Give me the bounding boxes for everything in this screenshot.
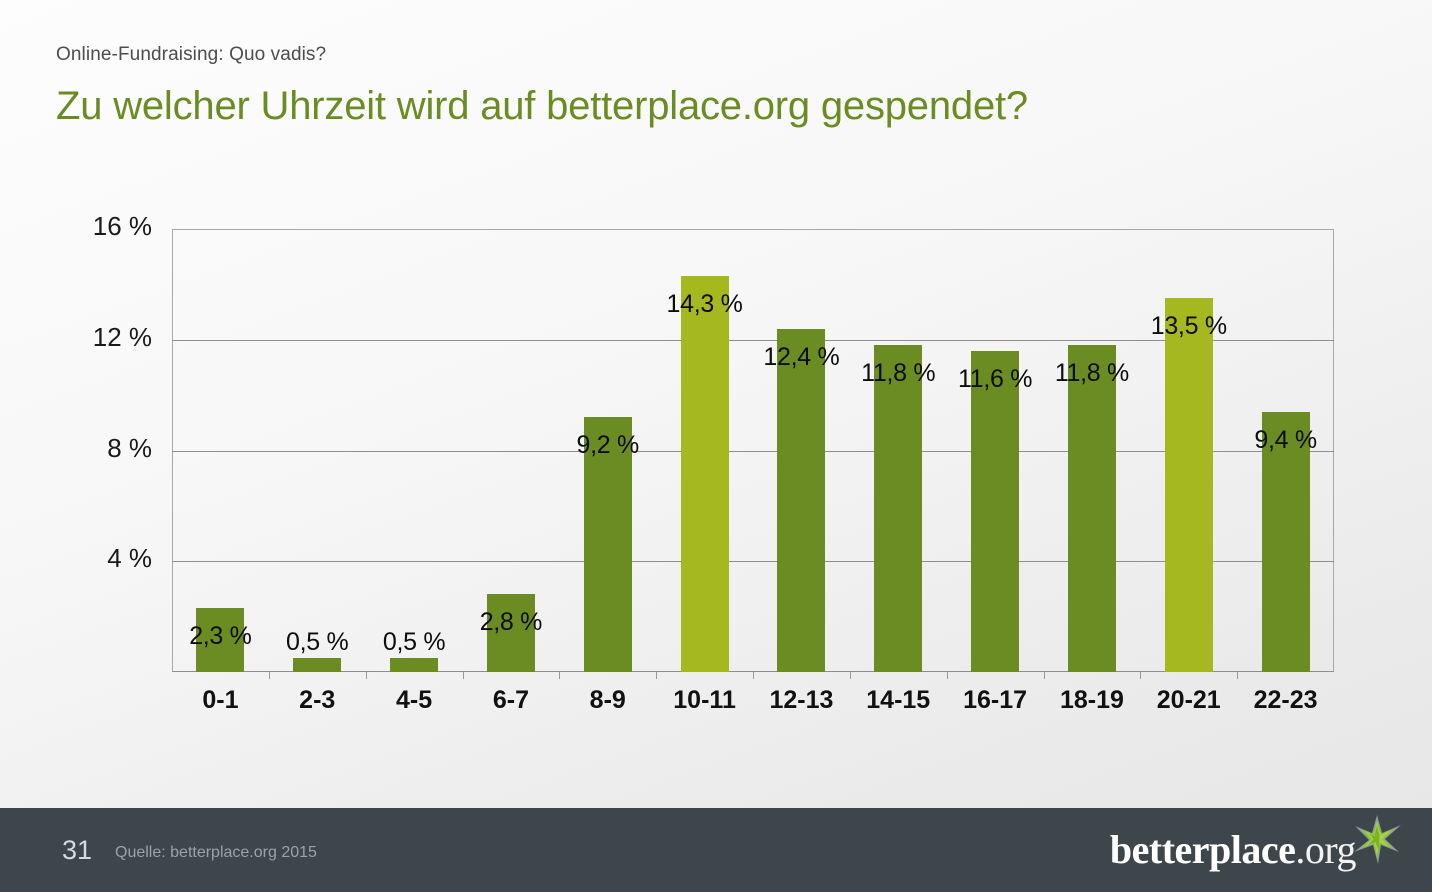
x-axis-tick [1044, 672, 1045, 679]
x-axis-category-label: 22-23 [1237, 686, 1334, 715]
bar-value-label: 14,3 % [667, 292, 743, 317]
x-axis-category-label: 18-19 [1044, 686, 1141, 715]
bar-slot: 11,8 % [1044, 229, 1141, 672]
slide-footer: 31 Quelle: betterplace.org 2015 betterpl… [0, 808, 1432, 892]
bar-value-label: 0,5 % [383, 630, 445, 655]
logo-wordmark: betterplace.org [1110, 830, 1356, 870]
x-axis-category-label: 12-13 [753, 686, 850, 715]
x-axis-category-label: 0-1 [172, 686, 269, 715]
betterplace-logo[interactable]: betterplace.org [1110, 826, 1404, 874]
bar-value-label: 11,6 % [958, 367, 1032, 392]
bar-value-label: 11,8 % [861, 361, 935, 386]
bar[interactable]: 0,5 % [390, 658, 438, 672]
bar-slot: 11,8 % [850, 229, 947, 672]
logo-brand-text: betterplace [1110, 827, 1296, 872]
x-axis-tick [1237, 672, 1238, 679]
logo-tld-text: .org [1295, 827, 1356, 872]
bar-slot: 9,4 % [1237, 229, 1334, 672]
bars-container: 2,3 %0,5 %0,5 %2,8 %9,2 %14,3 %12,4 %11,… [172, 229, 1334, 672]
bar[interactable]: 9,4 % [1262, 412, 1310, 672]
x-axis-tick [559, 672, 560, 679]
x-axis-tick [947, 672, 948, 679]
bar-value-label: 2,8 % [480, 610, 542, 635]
bar[interactable]: 11,6 % [971, 351, 1019, 672]
bar-value-label: 12,4 % [763, 345, 839, 370]
bar[interactable]: 11,8 % [1068, 345, 1116, 672]
bar-slot: 12,4 % [753, 229, 850, 672]
bar-value-label: 13,5 % [1151, 314, 1227, 339]
x-axis-category-label: 8-9 [559, 686, 656, 715]
x-axis-tick [753, 672, 754, 679]
bar-value-label: 2,3 % [189, 624, 251, 649]
bar[interactable]: 2,8 % [487, 594, 535, 672]
bar-slot: 0,5 % [366, 229, 463, 672]
x-axis-tick [366, 672, 367, 679]
x-axis-category-label: 4-5 [366, 686, 463, 715]
x-axis-tick [269, 672, 270, 679]
bar-value-label: 9,4 % [1254, 428, 1316, 453]
bar[interactable]: 11,8 % [874, 345, 922, 672]
bar-value-label: 0,5 % [286, 630, 348, 655]
y-axis-tick-label: 8 % [32, 433, 152, 464]
y-axis-tick-label: 4 % [32, 543, 152, 574]
x-axis-category-label: 14-15 [850, 686, 947, 715]
bar[interactable]: 9,2 % [584, 417, 632, 672]
bar-slot: 9,2 % [559, 229, 656, 672]
page-number: 31 [62, 835, 92, 866]
bar-slot: 2,3 % [172, 229, 269, 672]
y-axis-tick-label: 16 % [32, 211, 152, 242]
bar-slot: 11,6 % [947, 229, 1044, 672]
bar-slot: 0,5 % [269, 229, 366, 672]
bar[interactable]: 14,3 % [681, 276, 729, 672]
bar[interactable]: 0,5 % [293, 658, 341, 672]
x-axis-category-label: 20-21 [1140, 686, 1237, 715]
x-axis-tick [656, 672, 657, 679]
bar-chart: 4 %8 %12 %16 % 2,3 %0,5 %0,5 %2,8 %9,2 %… [0, 0, 1432, 808]
bar-value-label: 9,2 % [577, 433, 639, 458]
bar-value-label: 11,8 % [1055, 361, 1129, 386]
bar[interactable]: 13,5 % [1165, 298, 1213, 672]
x-axis-tick [850, 672, 851, 679]
spark-star-icon [1350, 812, 1404, 866]
bar-slot: 13,5 % [1140, 229, 1237, 672]
bar-slot: 2,8 % [463, 229, 560, 672]
x-axis-category-label: 16-17 [947, 686, 1044, 715]
y-axis-tick-label: 12 % [32, 322, 152, 353]
bar[interactable]: 2,3 % [196, 608, 244, 672]
x-axis-category-label: 2-3 [269, 686, 366, 715]
x-axis-category-label: 6-7 [463, 686, 560, 715]
x-axis-category-label: 10-11 [656, 686, 753, 715]
x-axis-tick [463, 672, 464, 679]
x-axis-tick [1140, 672, 1141, 679]
bar-slot: 14,3 % [656, 229, 753, 672]
source-note: Quelle: betterplace.org 2015 [115, 844, 317, 862]
bar[interactable]: 12,4 % [777, 329, 825, 672]
